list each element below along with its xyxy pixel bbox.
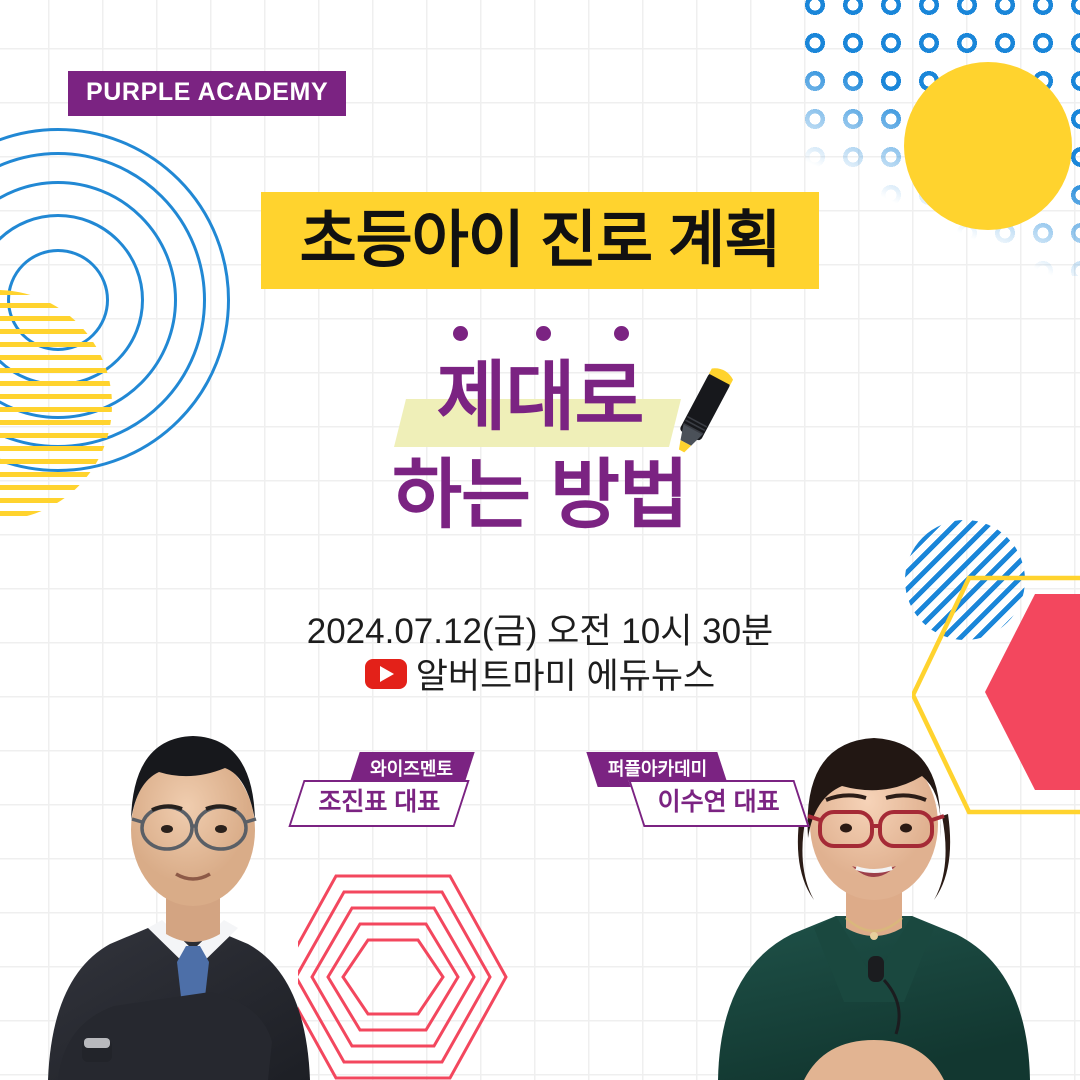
marker-pen-icon — [660, 360, 740, 465]
youtube-icon[interactable] — [365, 659, 407, 689]
headline-banner-text: 초등아이 진로 계획 — [300, 210, 781, 272]
yellow-circle-icon — [904, 62, 1072, 230]
poster-canvas: PURPLE ACADEMY 초등아이 진로 계획 제대로 하는 방법 2024… — [0, 0, 1080, 1080]
speaker-photo-right — [700, 688, 1050, 1080]
title-dot-icon — [536, 326, 551, 341]
title-dot-icon — [453, 326, 468, 341]
speaker-photo-left — [28, 688, 358, 1080]
subtitle-line-2: 하는 방법 — [0, 458, 1080, 534]
title-dot-icon — [614, 326, 629, 341]
speaker-right-name: 이수연 대표 — [628, 780, 809, 827]
brand-logo-badge[interactable]: PURPLE ACADEMY — [68, 71, 346, 116]
blue-dot-grid-icon — [796, 0, 1080, 276]
headline-banner: 초등아이 진로 계획 — [261, 192, 819, 289]
event-datetime: 2024.07.12(금) 오전 10시 30분 — [0, 603, 1080, 654]
channel-name: 알버트마미 에듀뉴스 — [416, 648, 716, 699]
subtitle-line-1: 제대로 — [0, 360, 1080, 436]
speaker-left-name: 조진표 대표 — [288, 780, 469, 827]
